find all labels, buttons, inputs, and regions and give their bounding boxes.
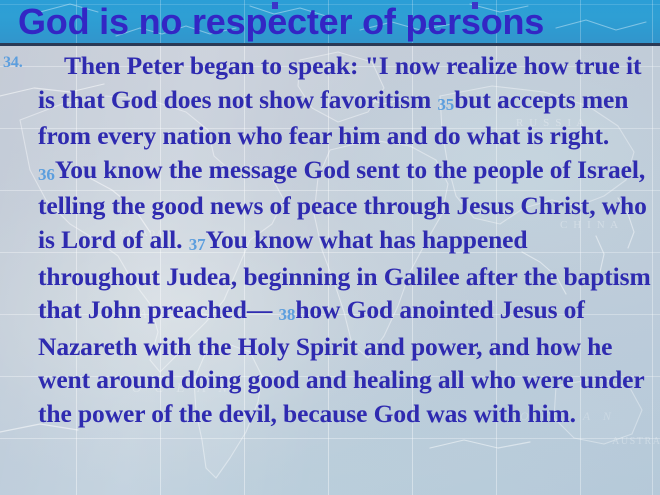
verse-block: 34. Then Peter began to speak: "I now re… [0, 49, 660, 431]
verse-number-37: 37 [189, 235, 206, 254]
verse-number-36: 36 [38, 165, 55, 184]
verse-number-38: 38 [279, 305, 296, 324]
page-title: God is no respecter of persons [18, 0, 544, 45]
verse-number-35: 35 [437, 95, 454, 114]
presentation-slide: P A C I F I C O C E A N C H I N A R U S … [0, 0, 660, 495]
scripture-paragraph: Then Peter began to speak: "I now realiz… [38, 49, 654, 431]
svg-text:AUSTRA: AUSTRA [612, 436, 660, 447]
verse-number-34: 34. [3, 55, 23, 71]
scripture-body: 34. Then Peter began to speak: "I now re… [0, 49, 660, 431]
slide-title-banner: God is no respecter of persons [0, 0, 660, 46]
